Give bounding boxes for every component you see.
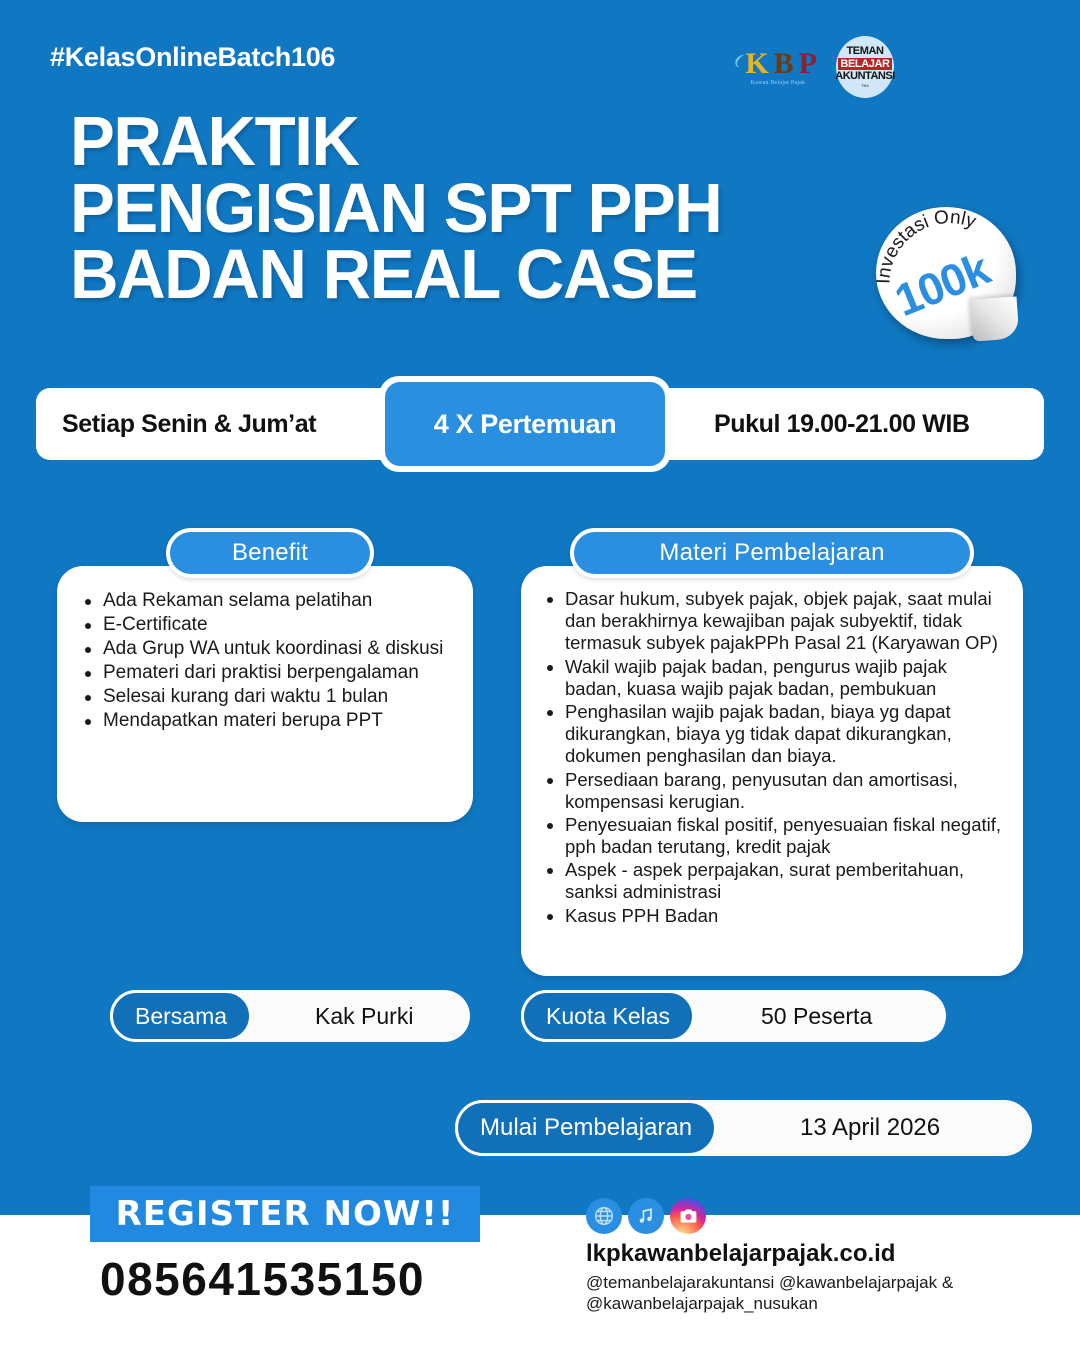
list-item: Pemateri dari praktisi berpengalaman <box>79 662 451 685</box>
website-label[interactable]: lkpkawanbelajarpajak.co.id <box>586 1240 895 1268</box>
poster-title: PRAKTIK PENGISIAN SPT PPH BADAN REAL CAS… <box>70 108 721 308</box>
list-item: Penyesuaian fiskal positif, penyesuaian … <box>541 814 1005 858</box>
mulai-label: Mulai Pembelajaran <box>455 1100 717 1156</box>
list-item: Aspek - aspek perpajakan, surat pemberit… <box>541 859 1005 903</box>
list-item: Selesai kurang dari waktu 1 bulan <box>79 686 451 709</box>
benefit-heading: Benefit <box>166 528 374 578</box>
kbp-letter-p: P <box>799 47 822 80</box>
social-icon-group <box>586 1198 706 1234</box>
kbp-logo: KBP Kawan Belajar Pajak <box>734 37 822 97</box>
bersama-row: Kak Purki Bersama <box>110 990 470 1042</box>
list-item: Persediaan barang, penyusutan dan amorti… <box>541 769 1005 813</box>
tba-line-2: BELAJAR <box>838 58 891 70</box>
title-line-2: PENGISIAN SPT PPH <box>70 175 721 242</box>
mulai-row: 13 April 2026 Mulai Pembelajaran <box>455 1100 1032 1156</box>
list-item: Mendapatkan materi berupa PPT <box>79 710 451 733</box>
benefit-card: Ada Rekaman selama pelatihan E-Certifica… <box>57 566 473 822</box>
title-line-3: BADAN REAL CASE <box>70 241 721 308</box>
kuota-label: Kuota Kelas <box>521 990 695 1042</box>
price-sticker: Investasi Only 100k <box>876 207 1016 339</box>
globe-icon[interactable] <box>586 1198 622 1234</box>
materi-card: Dasar hukum, subyek pajak, objek pajak, … <box>521 566 1023 976</box>
kbp-letter-k: K <box>745 47 773 80</box>
schedule-bar: Setiap Senin & Jum’at Pukul 19.00-21.00 … <box>36 388 1044 460</box>
materi-list: Dasar hukum, subyek pajak, objek pajak, … <box>521 566 1023 927</box>
teman-belajar-akuntansi-logo: TEMAN BELAJAR AKUNTANSI TBA <box>836 36 894 98</box>
title-line-1: PRAKTIK <box>70 108 721 175</box>
list-item: Dasar hukum, subyek pajak, objek pajak, … <box>541 588 1005 655</box>
list-item: E-Certificate <box>79 614 451 637</box>
tba-line-4: TBA <box>861 83 869 88</box>
schedule-sessions: 4 X Pertemuan <box>385 382 665 466</box>
bersama-label: Bersama <box>110 990 252 1042</box>
list-item: Kasus PPH Badan <box>541 905 1005 927</box>
tba-line-3: AKUNTANSI <box>835 71 894 82</box>
dolphin-icon <box>734 43 745 79</box>
schedule-sessions-wrapper: 4 X Pertemuan <box>379 376 671 472</box>
register-now-button[interactable]: REGISTER NOW!! <box>90 1186 480 1242</box>
list-item: Penghasilan wajib pajak badan, biaya yg … <box>541 701 1005 768</box>
materi-heading: Materi Pembelajaran <box>570 528 974 578</box>
phone-number[interactable]: 085641535150 <box>100 1252 425 1306</box>
kuota-row: 50 Peserta Kuota Kelas <box>521 990 946 1042</box>
social-handles: @temanbelajarakuntansi @kawanbelajarpaja… <box>586 1273 1046 1314</box>
hashtag-label: #KelasOnlineBatch106 <box>50 42 335 73</box>
music-note-icon[interactable] <box>628 1198 664 1234</box>
register-now-label: REGISTER NOW!! <box>116 1194 455 1234</box>
logo-group: KBP Kawan Belajar Pajak TEMAN BELAJAR AK… <box>734 36 894 98</box>
kbp-logo-subtitle: Kawan Belajar Pajak <box>734 80 822 86</box>
camera-icon[interactable] <box>670 1198 706 1234</box>
poster-root: #KelasOnlineBatch106 KBP Kawan Belajar P… <box>0 0 1080 1350</box>
list-item: Ada Rekaman selama pelatihan <box>79 590 451 613</box>
list-item: Wakil wajib pajak badan, pengurus wajib … <box>541 656 1005 700</box>
tba-line-1: TEMAN <box>846 46 883 57</box>
benefit-list: Ada Rekaman selama pelatihan E-Certifica… <box>57 566 473 733</box>
kbp-letter-b: B <box>774 47 799 80</box>
list-item: Ada Grup WA untuk koordinasi & diskusi <box>79 638 451 661</box>
